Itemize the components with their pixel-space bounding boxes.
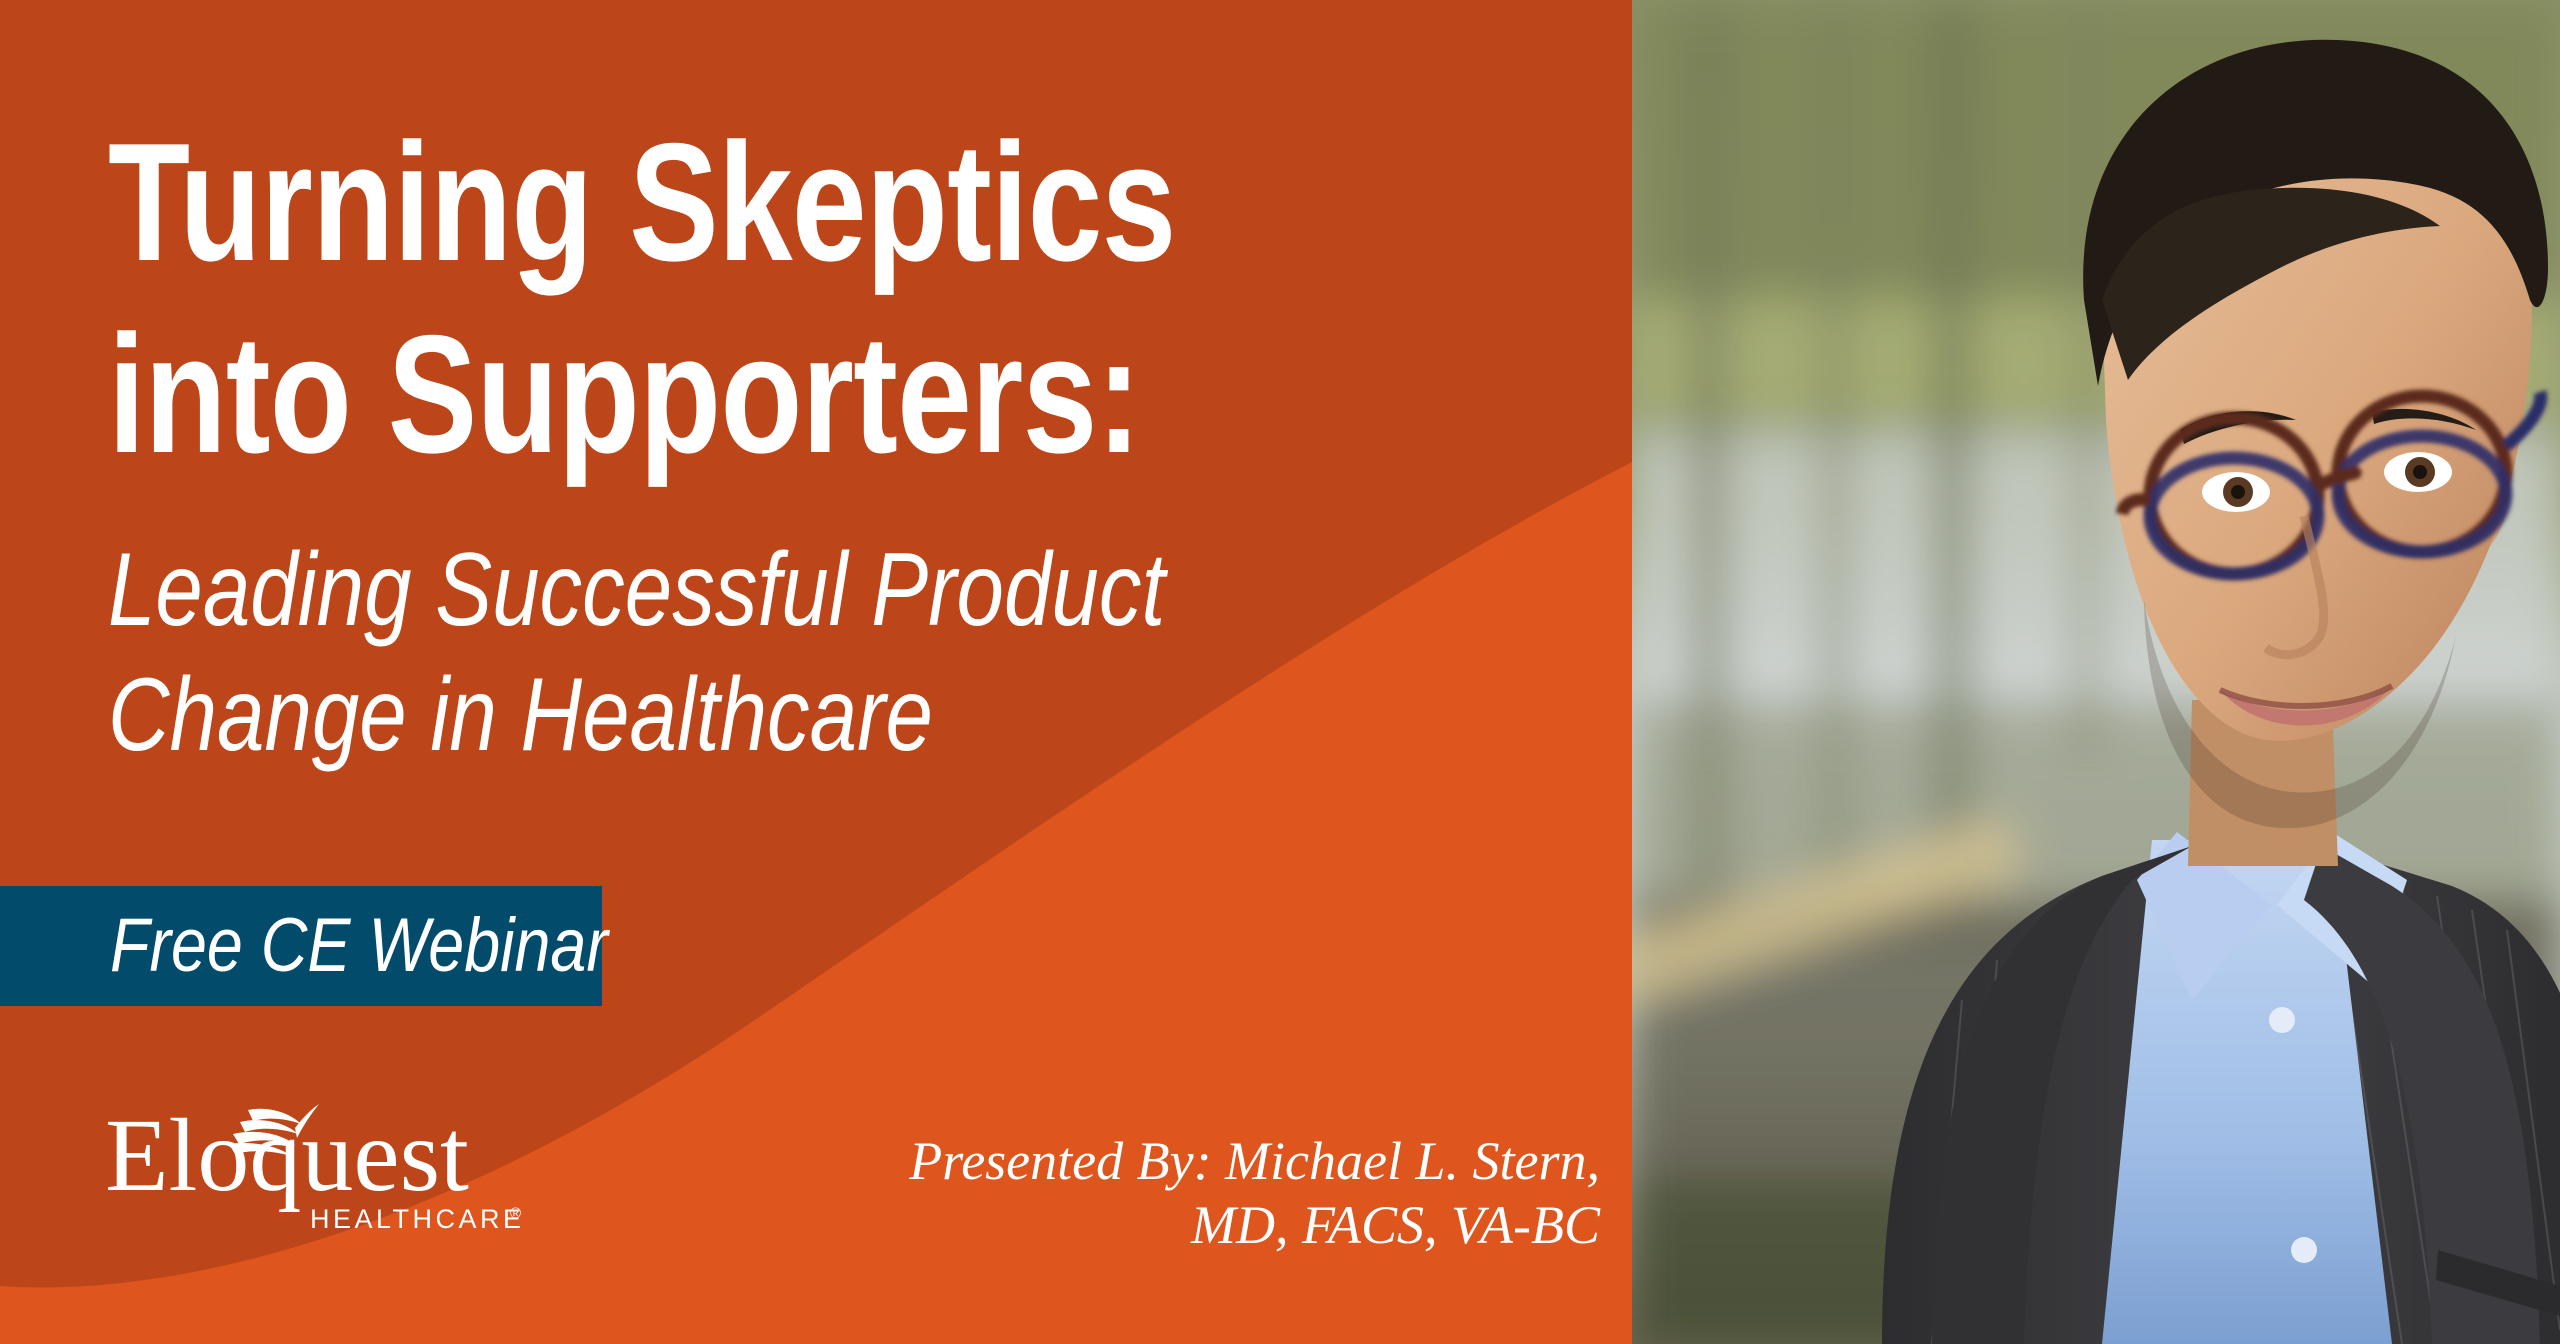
webinar-promo-banner: Turning Skeptics into Supporters: Leadin…	[0, 0, 2560, 1344]
badge-label: Free CE Webinar	[110, 908, 608, 984]
free-ce-webinar-badge[interactable]: Free CE Webinar	[0, 886, 602, 1006]
logo-artwork: Eloquest HEALTHCARE ®	[105, 1100, 535, 1250]
portrait-artwork	[1632, 0, 2560, 1344]
text-content-block: Turning Skeptics into Supporters: Leadin…	[0, 0, 1632, 1344]
headline-line-2: into Supporters:	[108, 310, 1140, 478]
presenter-line-1: Presented By: Michael L. Stern,	[840, 1130, 1600, 1194]
presenter-credit: Presented By: Michael L. Stern, MD, FACS…	[840, 1130, 1600, 1257]
presenter-portrait-photo	[1632, 0, 2560, 1344]
logo-registered-mark: ®	[510, 1205, 521, 1222]
logo-wordmark: Eloquest	[105, 1100, 469, 1213]
subheadline-line-1: Leading Successful Product	[108, 538, 1165, 642]
shirt-button	[2269, 1007, 2295, 1033]
shirt-button	[2291, 1237, 2317, 1263]
presenter-line-2: MD, FACS, VA-BC	[840, 1194, 1600, 1258]
eloquest-healthcare-logo[interactable]: Eloquest HEALTHCARE ®	[105, 1100, 535, 1250]
subheadline-line-2: Change in Healthcare	[108, 663, 933, 767]
headline-line-1: Turning Skeptics	[108, 118, 1176, 286]
logo-tagline: HEALTHCARE	[310, 1204, 525, 1234]
orange-content-panel: Turning Skeptics into Supporters: Leadin…	[0, 0, 1632, 1344]
